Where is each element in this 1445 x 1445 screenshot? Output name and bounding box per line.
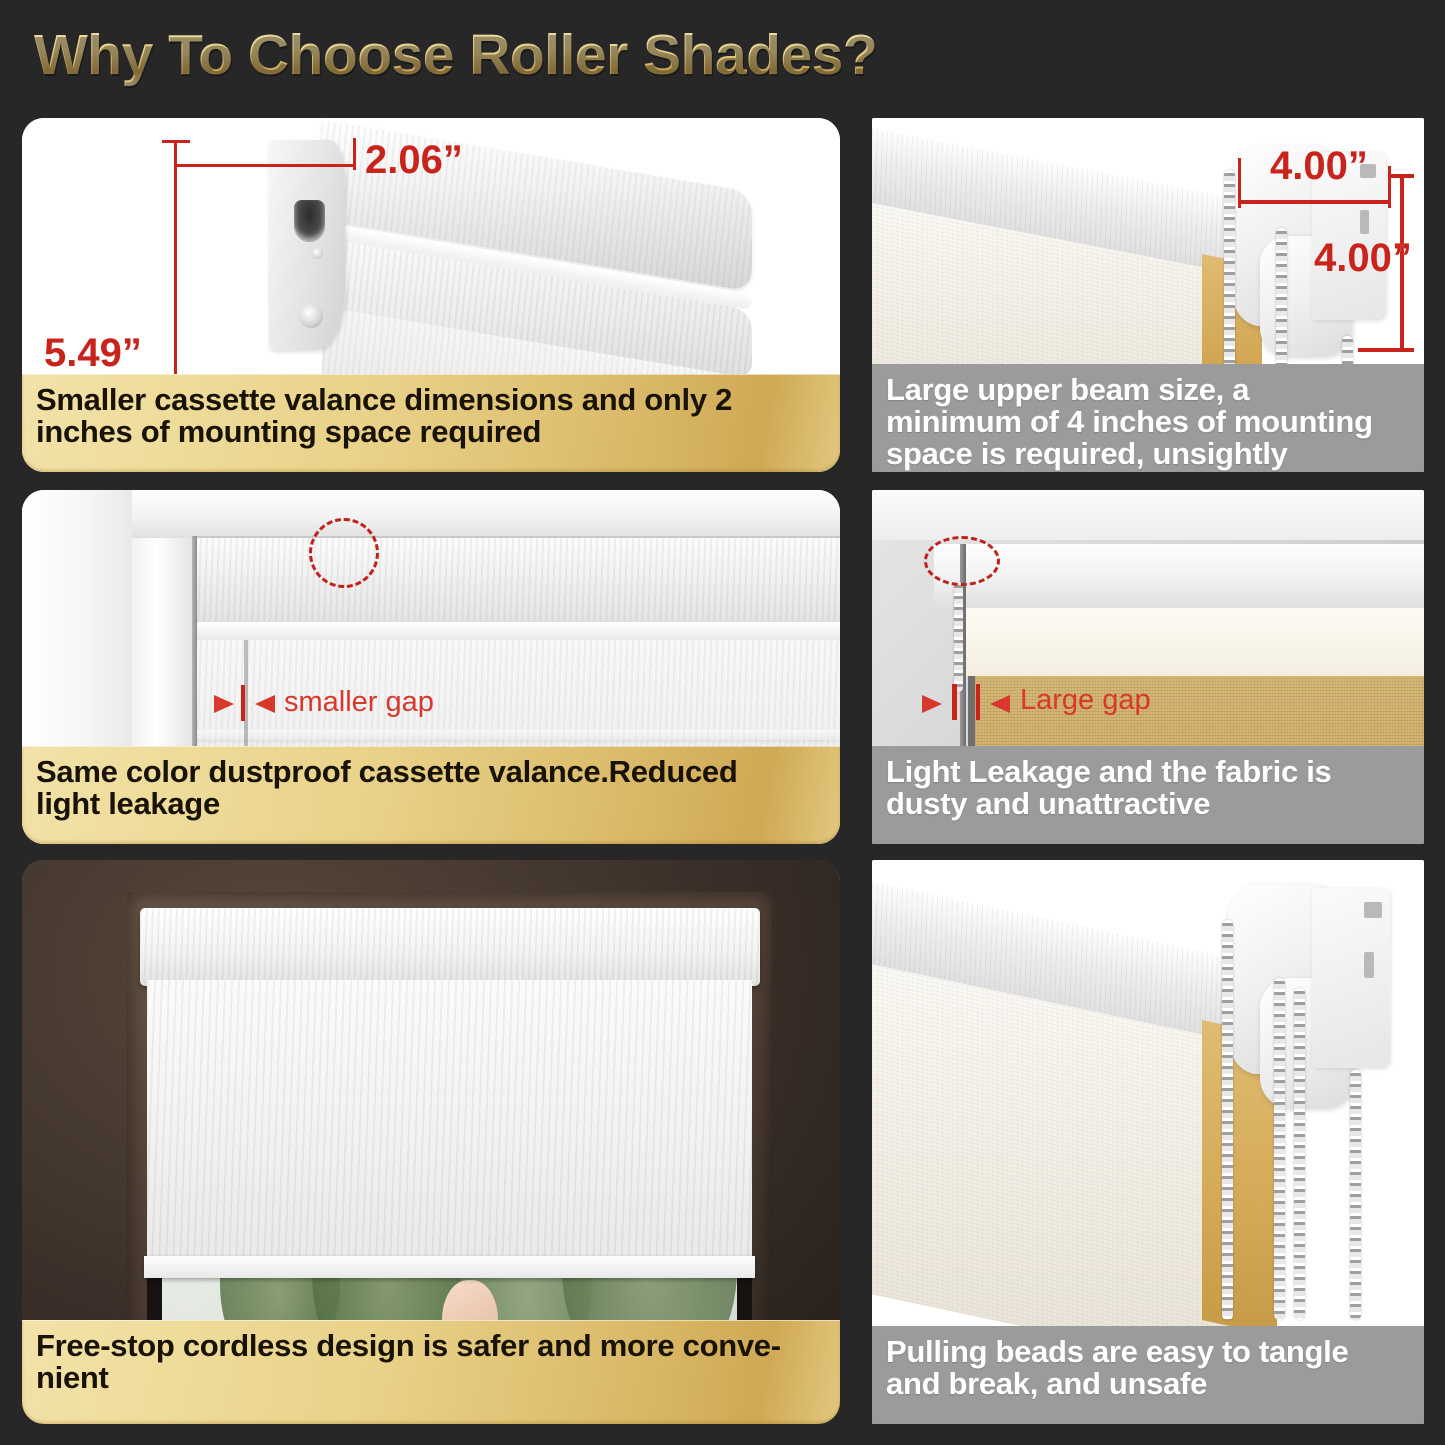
caption-line: Light Leakage and the fabric is <box>886 756 1410 788</box>
caption-line: light leakage <box>36 788 826 820</box>
width-dimension-line <box>174 164 356 167</box>
panel-6-caption: Pulling beads are easy to tangle and bre… <box>872 1326 1424 1424</box>
panel-3-caption: Same color dustproof cassette valance.Re… <box>22 746 840 844</box>
gap-label: smaller gap <box>284 686 434 719</box>
panel-5-caption: Free-stop cordless design is safer and m… <box>22 1320 840 1424</box>
caption-line: minimum of 4 inches of mounting <box>886 406 1410 438</box>
caption-line: inches of mounting space required <box>36 416 826 448</box>
gap-arrow-right <box>990 695 1010 713</box>
gap-label: Large gap <box>1020 684 1151 717</box>
panel-2: 4.00” 4.00” Large upper beam size, a min… <box>872 118 1424 472</box>
caption-line: Free-stop cordless design is safer and m… <box>36 1330 826 1362</box>
caption-line: dusty and unattractive <box>886 788 1410 820</box>
gap-arrow-left <box>922 695 942 713</box>
caption-line: Pulling beads are easy to tangle <box>886 1336 1410 1368</box>
panel-5: Free-stop cordless design is safer and m… <box>22 860 840 1424</box>
panel-6: Pulling beads are easy to tangle and bre… <box>872 860 1424 1424</box>
panel-3: smaller gap Same color dustproof cassett… <box>22 490 840 844</box>
page-title: Why To Choose Roller Shades? <box>34 22 877 88</box>
gap-highlight-circle <box>309 518 379 588</box>
gap-highlight-circle <box>924 536 1000 586</box>
panel-2-caption: Large upper beam size, a minimum of 4 in… <box>872 364 1424 472</box>
height-dimension-label: 5.49” <box>44 331 142 376</box>
gap-arrow-left <box>214 695 234 713</box>
panel-2-height-dimension-label: 4.00” <box>1314 236 1412 281</box>
panel-2-width-dimension-label: 4.00” <box>1270 144 1368 189</box>
panel-1-caption: Smaller cassette valance dimensions and … <box>22 374 840 472</box>
panel-4-caption: Light Leakage and the fabric is dusty an… <box>872 746 1424 844</box>
caption-line: nient <box>36 1362 826 1394</box>
gap-arrow-right <box>255 695 275 713</box>
caption-line: Same color dustproof cassette valance.Re… <box>36 756 826 788</box>
width-dimension-label: 2.06” <box>365 138 463 183</box>
panel-4: Large gap Light Leakage and the fabric i… <box>872 490 1424 844</box>
caption-line: space is required, unsightly <box>886 438 1410 470</box>
caption-line: Large upper beam size, a <box>886 374 1410 406</box>
caption-line: and break, and unsafe <box>886 1368 1410 1400</box>
caption-line: Smaller cassette valance dimensions and … <box>36 384 826 416</box>
panel-1: 2.06” 5.49” Smaller cassette valance dim… <box>22 118 840 472</box>
